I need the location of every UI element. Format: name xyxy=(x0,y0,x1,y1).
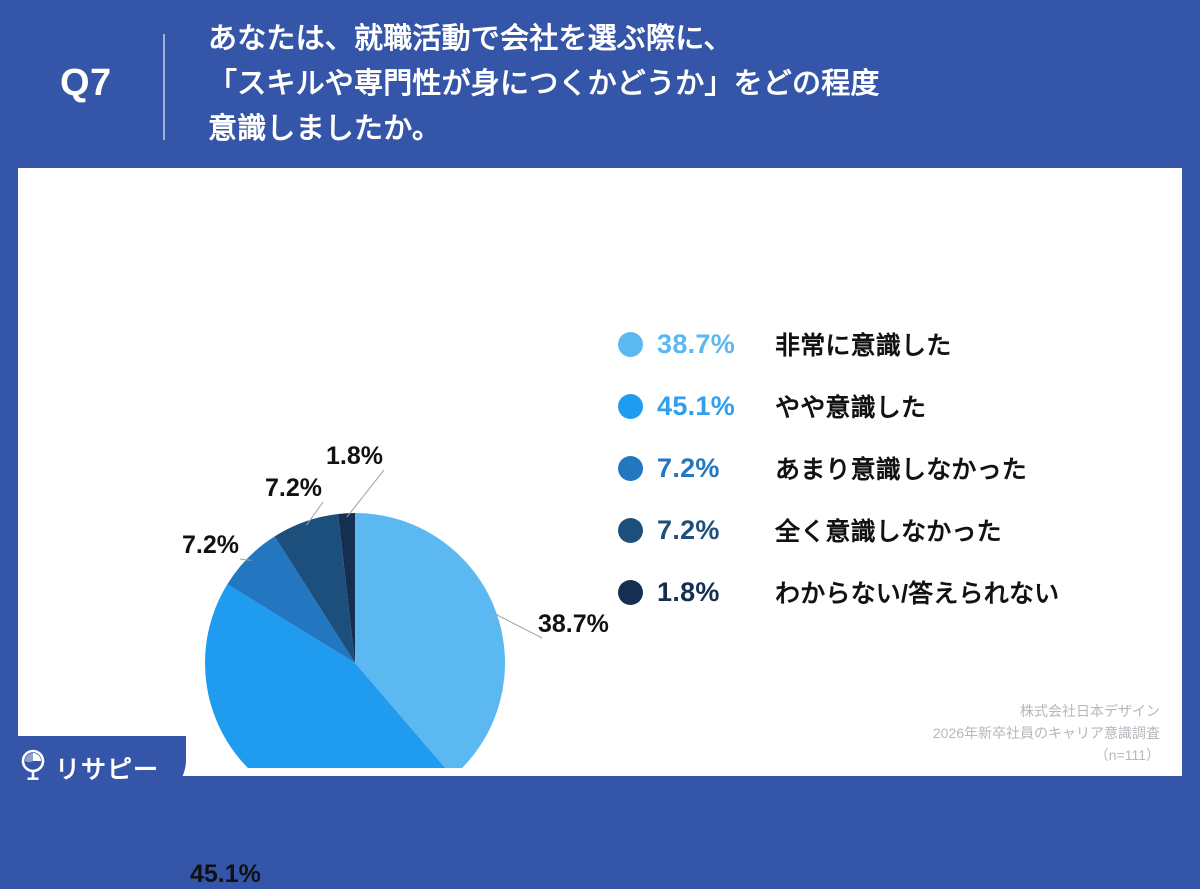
legend-percent: 7.2% xyxy=(657,453,775,484)
legend-percent: 1.8% xyxy=(657,577,775,608)
legend-color-swatch xyxy=(618,456,643,481)
legend-label: 全く意識しなかった xyxy=(775,512,1002,548)
pie-chart-svg xyxy=(38,208,658,768)
brand-logo-text: リサピー xyxy=(55,750,159,786)
legend-percent: 7.2% xyxy=(657,515,775,546)
pie-chart: 38.7%45.1%7.2%7.2%1.8% xyxy=(38,208,658,768)
pie-value-label: 7.2% xyxy=(265,474,322,503)
question-line-2: 「スキルや専門性が身につくかどうか」をどの程度 xyxy=(208,62,1168,107)
attribution-survey: 2026年新卒社員のキャリア意識調査 xyxy=(933,722,1160,744)
chart-legend: 38.7%非常に意識した45.1%やや意識した7.2%あまり意識しなかった7.2… xyxy=(618,313,1158,623)
legend-color-swatch xyxy=(618,518,643,543)
legend-color-swatch xyxy=(618,332,643,357)
legend-label: やや意識した xyxy=(775,388,926,424)
header-banner: Q7 あなたは、就職活動で会社を選ぶ際に、 「スキルや専門性が身につくかどうか」… xyxy=(0,0,1200,168)
question-title: あなたは、就職活動で会社を選ぶ際に、 「スキルや専門性が身につくかどうか」をどの… xyxy=(208,17,1168,152)
legend-item[interactable]: 38.7%非常に意識した xyxy=(618,313,1158,375)
legend-item[interactable]: 7.2%あまり意識しなかった xyxy=(618,437,1158,499)
legend-percent: 38.7% xyxy=(657,329,775,360)
pie-value-label: 45.1% xyxy=(190,860,261,889)
pie-slices xyxy=(205,513,505,768)
chart-card: 38.7%45.1%7.2%7.2%1.8% 38.7%非常に意識した45.1%… xyxy=(18,168,1182,776)
legend-label: あまり意識しなかった xyxy=(775,450,1027,486)
brand-logo: リサピー xyxy=(18,748,159,787)
legend-label: わからない/答えられない xyxy=(775,574,1059,610)
pie-value-label: 7.2% xyxy=(182,531,239,560)
attribution-block: 株式会社日本デザイン 2026年新卒社員のキャリア意識調査 （n=111） xyxy=(933,700,1160,766)
attribution-sample-size: （n=111） xyxy=(933,744,1160,766)
legend-item[interactable]: 1.8%わからない/答えられない xyxy=(618,561,1158,623)
header-divider xyxy=(163,34,165,140)
question-line-1: あなたは、就職活動で会社を選ぶ際に、 xyxy=(208,17,1168,62)
legend-color-swatch xyxy=(618,580,643,605)
legend-color-swatch xyxy=(618,394,643,419)
magnifier-pin-icon xyxy=(18,748,48,787)
question-line-3: 意識しましたか。 xyxy=(208,107,1168,152)
legend-label: 非常に意識した xyxy=(775,326,951,362)
brand-logo-badge[interactable]: リサピー xyxy=(0,736,186,800)
legend-item[interactable]: 45.1%やや意識した xyxy=(618,375,1158,437)
legend-percent: 45.1% xyxy=(657,391,775,422)
question-number: Q7 xyxy=(60,62,112,105)
pie-value-label: 1.8% xyxy=(326,442,383,471)
attribution-company: 株式会社日本デザイン xyxy=(933,700,1160,722)
legend-item[interactable]: 7.2%全く意識しなかった xyxy=(618,499,1158,561)
pie-leader-line xyxy=(347,470,384,517)
pie-value-label: 38.7% xyxy=(538,610,609,639)
